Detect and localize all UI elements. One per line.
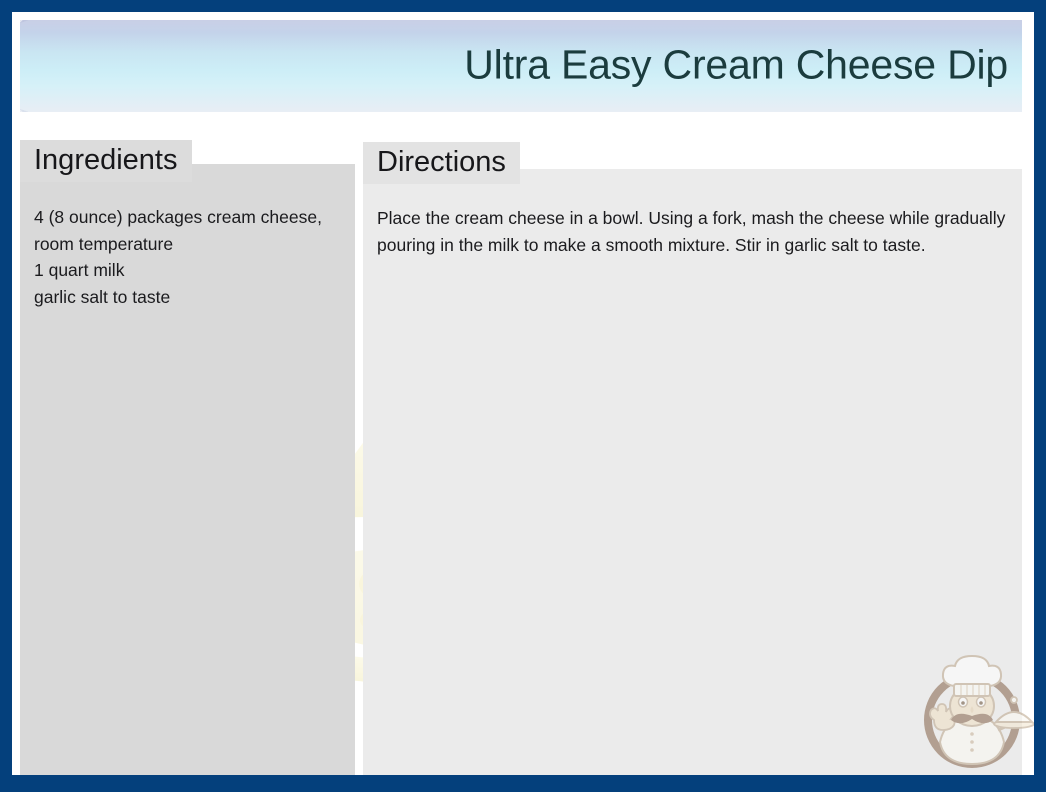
card-inner-page: Ultra Easy Cream Cheese Dip — [12, 12, 1034, 775]
title-banner: Ultra Easy Cream Cheese Dip — [20, 20, 1022, 112]
directions-tab-label: Directions — [363, 142, 520, 184]
ingredients-list: 4 (8 ounce) packages cream cheese, room … — [34, 204, 334, 310]
recipe-card: Ultra Easy Cream Cheese Dip — [0, 0, 1046, 792]
directions-panel — [363, 169, 1022, 775]
ingredient-item: 4 (8 ounce) packages cream cheese, room … — [34, 204, 334, 257]
ingredient-item: garlic salt to taste — [34, 284, 334, 311]
ingredient-item: 1 quart milk — [34, 257, 334, 284]
page-title: Ultra Easy Cream Cheese Dip — [464, 42, 1008, 89]
ingredients-tab-label: Ingredients — [20, 140, 192, 182]
directions-text: Place the cream cheese in a bowl. Using … — [377, 205, 1025, 258]
